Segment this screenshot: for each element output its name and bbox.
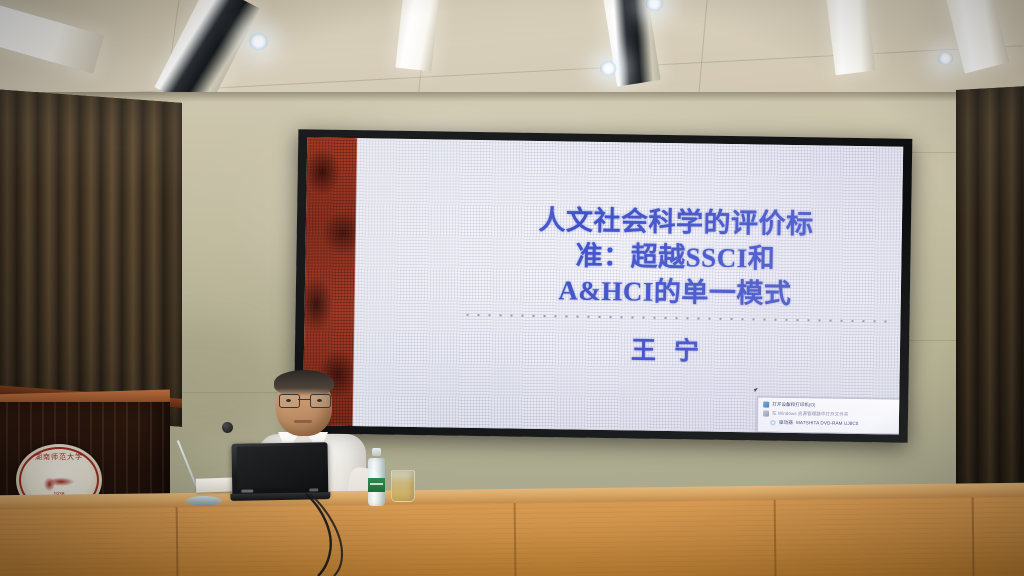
screen-display-area: 人文社会科学的评价标 准：超越SSCI和 A&HCI的单一模式 王宁 打开设备和… xyxy=(303,137,903,434)
tea-glass xyxy=(391,470,415,502)
microphone-capsule xyxy=(222,422,233,433)
led-presentation-screen[interactable]: 人文社会科学的评价标 准：超越SSCI和 A&HCI的单一模式 王宁 打开设备和… xyxy=(294,129,913,443)
laptop-lid xyxy=(231,442,328,496)
spotlight-bulb-4 xyxy=(600,61,617,76)
emblem-chinese-name: 湖南师范大学 xyxy=(16,452,102,462)
wood-panel-left xyxy=(0,89,182,427)
screen-glare xyxy=(353,138,903,435)
laptop-screen-back xyxy=(237,445,324,488)
desk-front-panel xyxy=(0,497,1024,576)
spotlight-bulb-4b xyxy=(646,0,663,11)
ceiling-light-6 xyxy=(944,0,1009,73)
power-cable xyxy=(300,492,380,576)
wood-panel-right xyxy=(956,86,1024,530)
ceiling-light-1 xyxy=(0,0,104,74)
spotlight-bulb-2 xyxy=(249,33,268,50)
presentation-desk xyxy=(0,483,1024,576)
bottle-label xyxy=(368,478,385,492)
spotlight-bulb-6 xyxy=(938,52,953,65)
bottle-cap xyxy=(372,448,381,456)
lecture-hall-photo: 人文社会科学的评价标 准：超越SSCI和 A&HCI的单一模式 王宁 打开设备和… xyxy=(0,0,1024,576)
laptop-logo xyxy=(241,489,253,492)
ceiling-light-5 xyxy=(824,0,875,75)
hair xyxy=(274,370,334,396)
slide-canvas: 人文社会科学的评价标 准：超越SSCI和 A&HCI的单一模式 王宁 打开设备和… xyxy=(353,138,903,435)
microphone-base xyxy=(186,496,222,506)
ceiling-light-3 xyxy=(395,0,439,71)
eyeglasses-icon xyxy=(279,394,329,406)
